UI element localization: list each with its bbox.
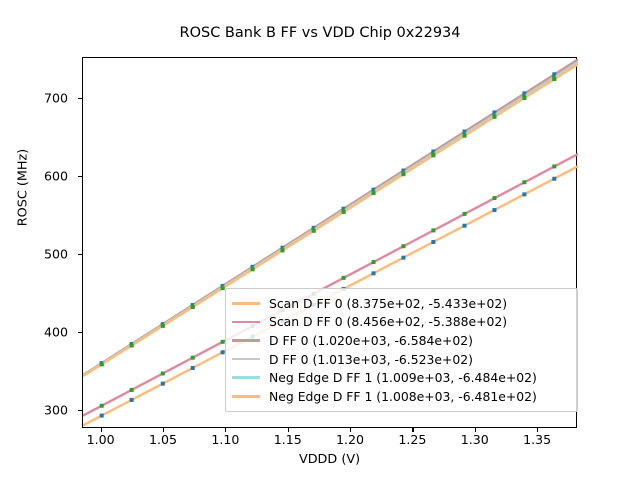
data-point-marker (431, 240, 435, 244)
y-tick-mark (78, 98, 82, 99)
legend-label: Neg Edge D FF 1 (1.009e+03, -6.484e+02) (269, 370, 537, 385)
data-point-marker (463, 134, 467, 138)
legend-color-swatch (232, 302, 260, 305)
legend-item[interactable]: Neg Edge D FF 1 (1.008e+03, -6.481e+02) (232, 387, 570, 406)
data-point-marker (130, 388, 134, 392)
data-point-marker (522, 180, 526, 184)
data-point-marker (431, 228, 435, 232)
x-tick-label: 1.30 (440, 432, 510, 447)
x-tick-mark (412, 428, 413, 432)
data-point-marker (522, 192, 526, 196)
legend-color-swatch (232, 358, 260, 361)
chart-legend: Scan D FF 0 (8.375e+02, -5.433e+02)Scan … (225, 288, 578, 412)
x-tick-label: 1.00 (66, 432, 136, 447)
data-point-marker (342, 276, 346, 280)
legend-label: Scan D FF 0 (8.375e+02, -5.433e+02) (269, 296, 507, 311)
x-axis-label: VDDD (V) (82, 452, 577, 467)
data-point-marker (372, 260, 376, 264)
data-point-marker (463, 212, 467, 216)
data-point-marker (552, 164, 556, 168)
y-tick-mark (78, 176, 82, 177)
data-point-marker (191, 305, 195, 309)
legend-label: D FF 0 (1.020e+03, -6.584e+02) (269, 333, 473, 348)
data-point-marker (161, 382, 165, 386)
data-point-marker (251, 267, 255, 271)
x-tick-mark (225, 428, 226, 432)
legend-label: D FF 0 (1.013e+03, -6.523e+02) (269, 352, 473, 367)
chart-title: ROSC Bank B FF vs VDD Chip 0x22934 (0, 25, 640, 41)
x-tick-mark (163, 428, 164, 432)
data-point-marker (161, 372, 165, 376)
data-point-marker (100, 404, 104, 408)
x-tick-label: 1.15 (253, 432, 323, 447)
data-point-marker (492, 196, 496, 200)
y-tick-mark (78, 254, 82, 255)
data-point-marker (463, 224, 467, 228)
legend-item[interactable]: D FF 0 (1.020e+03, -6.584e+02) (232, 331, 570, 350)
data-point-marker (191, 356, 195, 360)
data-point-marker (280, 248, 284, 252)
data-point-marker (130, 344, 134, 348)
data-point-marker (312, 229, 316, 233)
x-tick-mark (288, 428, 289, 432)
data-point-marker (191, 366, 195, 370)
data-point-marker (372, 191, 376, 195)
x-tick-mark (475, 428, 476, 432)
y-tick-mark (78, 332, 82, 333)
data-point-marker (100, 362, 104, 366)
x-tick-mark (350, 428, 351, 432)
data-point-marker (492, 115, 496, 119)
data-point-marker (130, 398, 134, 402)
legend-label: Neg Edge D FF 1 (1.008e+03, -6.481e+02) (269, 389, 537, 404)
legend-item[interactable]: Scan D FF 0 (8.375e+02, -5.433e+02) (232, 294, 570, 313)
x-tick-mark (101, 428, 102, 432)
data-point-marker (342, 210, 346, 214)
legend-color-swatch (232, 376, 260, 379)
y-tick-label: 700 (8, 91, 68, 106)
x-tick-label: 1.10 (190, 432, 260, 447)
x-tick-label: 1.05 (128, 432, 198, 447)
data-point-marker (100, 414, 104, 418)
y-tick-label: 300 (8, 403, 68, 418)
data-point-marker (401, 172, 405, 176)
data-point-marker (401, 244, 405, 248)
figure: ROSC Bank B FF vs VDD Chip 0x22934 30040… (0, 0, 640, 480)
data-point-marker (161, 324, 165, 328)
x-tick-mark (537, 428, 538, 432)
x-tick-label: 1.25 (377, 432, 447, 447)
y-axis-label: ROSC (MHz) (16, 118, 31, 258)
x-tick-label: 1.20 (315, 432, 385, 447)
data-point-marker (401, 256, 405, 260)
legend-color-swatch (232, 321, 260, 324)
data-point-marker (372, 271, 376, 275)
legend-label: Scan D FF 0 (8.456e+02, -5.388e+02) (269, 314, 507, 329)
y-tick-label: 400 (8, 325, 68, 340)
data-point-marker (552, 77, 556, 81)
x-tick-label: 1.35 (502, 432, 572, 447)
data-point-marker (492, 208, 496, 212)
legend-item[interactable]: D FF 0 (1.013e+03, -6.523e+02) (232, 350, 570, 369)
legend-color-swatch (232, 395, 260, 398)
legend-item[interactable]: Scan D FF 0 (8.456e+02, -5.388e+02) (232, 313, 570, 332)
legend-color-swatch (232, 339, 260, 342)
data-point-marker (522, 96, 526, 100)
y-tick-mark (78, 410, 82, 411)
data-point-marker (552, 177, 556, 181)
data-point-marker (431, 153, 435, 157)
legend-item[interactable]: Neg Edge D FF 1 (1.009e+03, -6.484e+02) (232, 368, 570, 387)
